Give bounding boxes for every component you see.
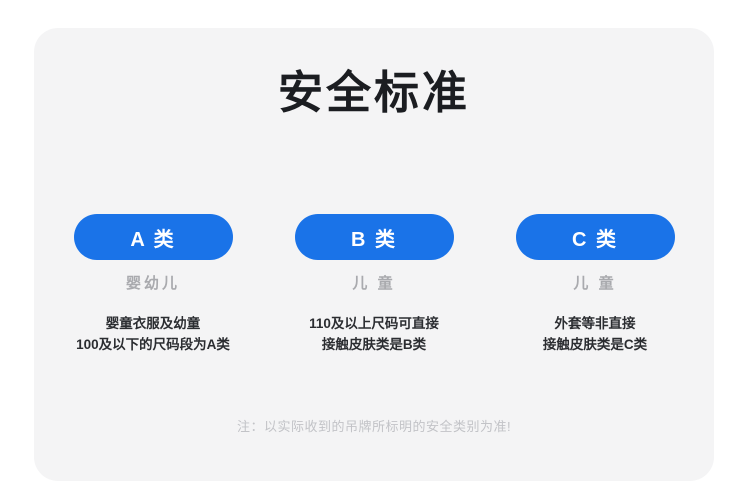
category-description-c-line-2: 接触皮肤类是C类	[543, 335, 647, 356]
page-title: 安全标准	[34, 68, 714, 118]
category-description-a-line-2: 100及以下的尺码段为A类	[76, 335, 230, 356]
safety-standard-card: 安全标准 A 类 婴幼儿 婴童衣服及幼童 100及以下的尺码段为A类 B 类 儿…	[34, 28, 714, 481]
category-column-a: A 类 婴幼儿 婴童衣服及幼童 100及以下的尺码段为A类	[74, 214, 233, 356]
category-subtitle-b: 儿 童	[352, 275, 395, 293]
category-badge-b[interactable]: B 类	[295, 214, 454, 260]
category-description-c-line-1: 外套等非直接	[543, 314, 647, 335]
category-description-b-line-1: 110及以上尺码可直接	[309, 314, 439, 335]
footer-note: 注：以实际收到的吊牌所标明的安全类别为准!	[34, 418, 714, 436]
category-subtitle-a: 婴幼儿	[126, 275, 180, 293]
category-description-a-line-1: 婴童衣服及幼童	[76, 314, 230, 335]
category-description-b-line-2: 接触皮肤类是B类	[309, 335, 439, 356]
category-description-b: 110及以上尺码可直接 接触皮肤类是B类	[309, 314, 439, 356]
category-columns: A 类 婴幼儿 婴童衣服及幼童 100及以下的尺码段为A类 B 类 儿 童 11…	[34, 214, 714, 356]
category-subtitle-c: 儿 童	[573, 275, 616, 293]
safety-standard-page: 安全标准 A 类 婴幼儿 婴童衣服及幼童 100及以下的尺码段为A类 B 类 儿…	[0, 0, 750, 498]
category-badge-a[interactable]: A 类	[74, 214, 233, 260]
category-description-a: 婴童衣服及幼童 100及以下的尺码段为A类	[76, 314, 230, 356]
category-badge-c[interactable]: C 类	[516, 214, 675, 260]
category-description-c: 外套等非直接 接触皮肤类是C类	[543, 314, 647, 356]
category-column-b: B 类 儿 童 110及以上尺码可直接 接触皮肤类是B类	[295, 214, 454, 356]
category-column-c: C 类 儿 童 外套等非直接 接触皮肤类是C类	[516, 214, 675, 356]
